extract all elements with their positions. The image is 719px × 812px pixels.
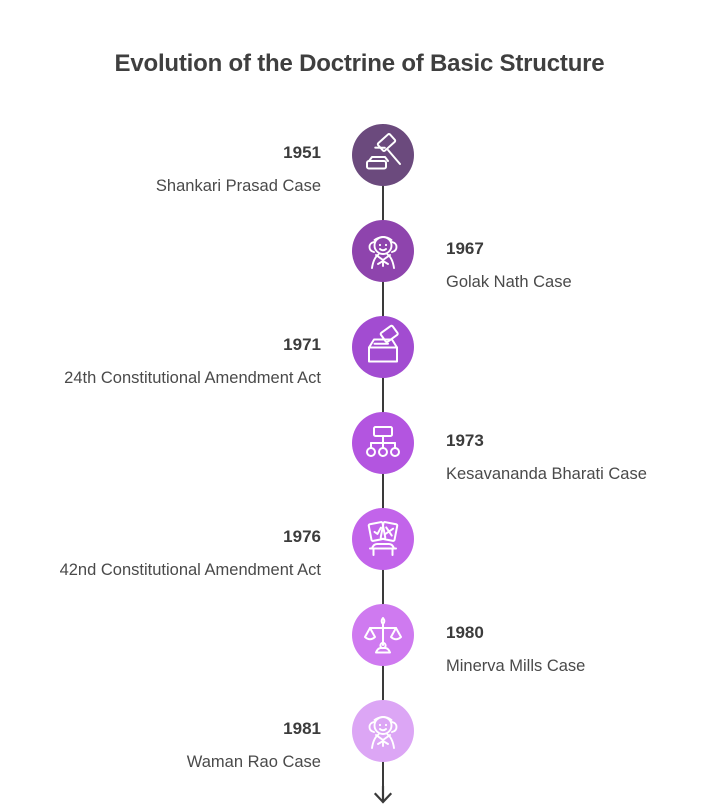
timeline-label: Waman Rao Case [21, 750, 321, 775]
timeline-entry-1976: 1976 42nd Constitutional Amendment Act [21, 527, 321, 583]
scales-of-justice-icon [352, 604, 414, 666]
timeline-node-1980[interactable] [352, 604, 414, 666]
timeline-year: 1981 [21, 719, 321, 739]
timeline-label: Minerva Mills Case [446, 654, 719, 679]
timeline-node-1976[interactable] [352, 508, 414, 570]
timeline-entry-1980: 1980 Minerva Mills Case [446, 623, 719, 679]
timeline-year: 1967 [446, 239, 719, 259]
timeline-year: 1973 [446, 431, 719, 451]
timeline-node-1951[interactable] [352, 124, 414, 186]
judge-icon [352, 700, 414, 762]
timeline-arrow-down-icon [371, 786, 395, 804]
timeline-label: Kesavananda Bharati Case [446, 462, 719, 487]
timeline-entry-1967: 1967 Golak Nath Case [446, 239, 719, 295]
timeline-entry-1981: 1981 Waman Rao Case [21, 719, 321, 775]
gavel-icon [352, 124, 414, 186]
timeline-label: 24th Constitutional Amendment Act [21, 366, 321, 391]
timeline-year: 1951 [21, 143, 321, 163]
timeline-entry-1951: 1951 Shankari Prasad Case [21, 143, 321, 199]
timeline-node-1973[interactable] [352, 412, 414, 474]
timeline-year: 1971 [21, 335, 321, 355]
page-title: Evolution of the Doctrine of Basic Struc… [0, 50, 719, 78]
timeline-label: Shankari Prasad Case [21, 174, 321, 199]
timeline-year: 1980 [446, 623, 719, 643]
ballot-box-icon [352, 316, 414, 378]
hierarchy-icon [352, 412, 414, 474]
judge-icon [352, 220, 414, 282]
timeline-node-1967[interactable] [352, 220, 414, 282]
documents-verdict-icon [352, 508, 414, 570]
timeline-entry-1973: 1973 Kesavananda Bharati Case [446, 431, 719, 487]
timeline-node-1981[interactable] [352, 700, 414, 762]
timeline-year: 1976 [21, 527, 321, 547]
timeline-node-1971[interactable] [352, 316, 414, 378]
timeline-entry-1971: 1971 24th Constitutional Amendment Act [21, 335, 321, 391]
timeline-label: Golak Nath Case [446, 270, 719, 295]
timeline-label: 42nd Constitutional Amendment Act [21, 558, 321, 583]
